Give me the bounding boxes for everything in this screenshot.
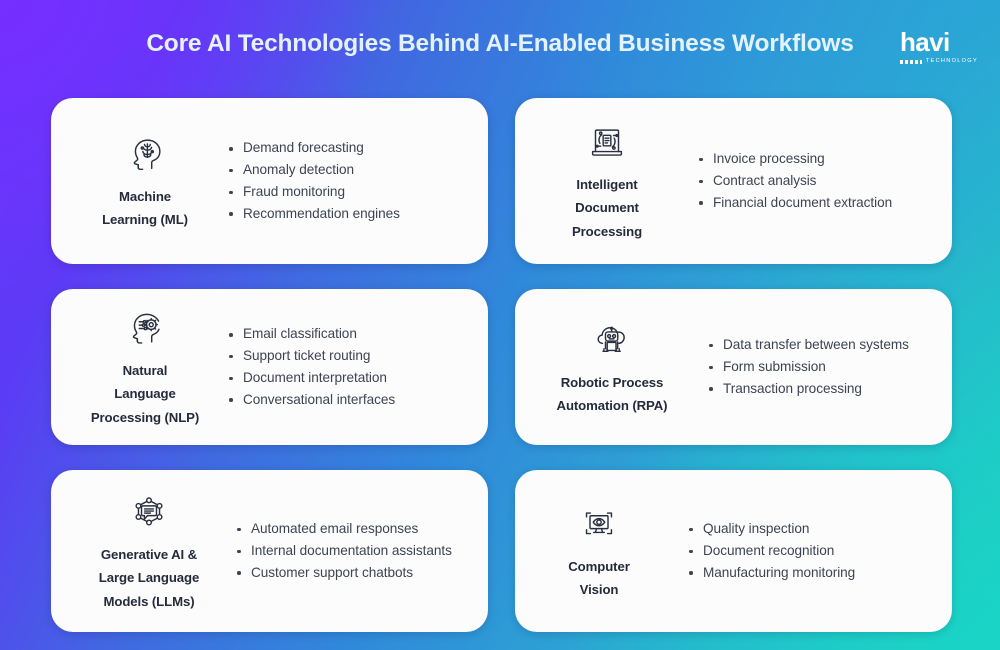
card-identity: IntelligentDocumentProcessing	[533, 119, 681, 242]
list-item: Email classification	[227, 323, 474, 345]
card-details: Invoice processing Contract analysis Fin…	[681, 148, 938, 213]
use-case-list: Quality inspection Document recognition …	[687, 518, 938, 583]
card-details: Automated email responses Internal docum…	[229, 518, 474, 583]
card-intelligent-document-processing[interactable]: IntelligentDocumentProcessing Invoice pr…	[515, 98, 952, 264]
card-computer-vision[interactable]: ComputerVision Quality inspection Docume…	[515, 470, 952, 632]
card-title: IntelligentDocumentProcessing	[572, 173, 642, 242]
list-item: Data transfer between systems	[707, 334, 938, 356]
card-generative-ai-llm[interactable]: Generative AI &Large LanguageModels (LLM…	[51, 470, 488, 632]
card-details: Quality inspection Document recognition …	[665, 518, 938, 583]
card-machine-learning[interactable]: MachineLearning (ML) Demand forecasting …	[51, 98, 488, 264]
laptop-document-gear-icon	[584, 119, 630, 165]
robot-cloud-icon	[589, 317, 635, 363]
card-title: ComputerVision	[568, 555, 629, 601]
card-robotic-process-automation[interactable]: Robotic ProcessAutomation (RPA) Data tra…	[515, 289, 952, 445]
list-item: Internal documentation assistants	[235, 540, 474, 562]
list-item: Document recognition	[687, 540, 938, 562]
card-identity: Generative AI &Large LanguageModels (LLM…	[69, 489, 229, 612]
brand-logo: havi TECHNOLOGY	[900, 29, 978, 65]
list-item: Form submission	[707, 356, 938, 378]
card-natural-language-processing[interactable]: NaturalLanguageProcessing (NLP) Email cl…	[51, 289, 488, 445]
card-details: Demand forecasting Anomaly detection Fra…	[221, 137, 474, 224]
list-item: Fraud monitoring	[227, 181, 474, 203]
card-identity: MachineLearning (ML)	[69, 131, 221, 231]
head-brain-icon	[122, 131, 168, 177]
list-item: Demand forecasting	[227, 137, 474, 159]
use-case-list: Automated email responses Internal docum…	[235, 518, 474, 583]
list-item: Customer support chatbots	[235, 562, 474, 584]
card-details: Email classification Support ticket rout…	[221, 323, 474, 410]
list-item: Document interpretation	[227, 367, 474, 389]
card-identity: ComputerVision	[533, 501, 665, 601]
technology-card-grid: MachineLearning (ML) Demand forecasting …	[51, 98, 952, 632]
head-circuit-gear-icon	[122, 305, 168, 351]
use-case-list: Demand forecasting Anomaly detection Fra…	[227, 137, 474, 224]
card-title: MachineLearning (ML)	[102, 185, 188, 231]
logo-dashes-icon	[900, 60, 922, 64]
chat-network-hexagon-icon	[126, 489, 172, 535]
infographic-page: Core AI Technologies Behind AI-Enabled B…	[0, 0, 1000, 650]
list-item: Transaction processing	[707, 378, 938, 400]
card-details: Data transfer between systems Form submi…	[691, 334, 938, 399]
use-case-list: Email classification Support ticket rout…	[227, 323, 474, 410]
logo-tagline: TECHNOLOGY	[926, 59, 978, 65]
list-item: Support ticket routing	[227, 345, 474, 367]
logo-wordmark: havi	[900, 29, 978, 55]
list-item: Invoice processing	[697, 148, 938, 170]
list-item: Financial document extraction	[697, 192, 938, 214]
page-title: Core AI Technologies Behind AI-Enabled B…	[0, 30, 1000, 58]
logo-subline: TECHNOLOGY	[900, 59, 978, 65]
use-case-list: Invoice processing Contract analysis Fin…	[697, 148, 938, 213]
header: Core AI Technologies Behind AI-Enabled B…	[0, 0, 1000, 92]
card-title: Robotic ProcessAutomation (RPA)	[557, 371, 668, 417]
list-item: Manufacturing monitoring	[687, 562, 938, 584]
card-identity: Robotic ProcessAutomation (RPA)	[533, 317, 691, 417]
card-title: Generative AI &Large LanguageModels (LLM…	[99, 543, 199, 612]
monitor-eye-icon	[576, 501, 622, 547]
use-case-list: Data transfer between systems Form submi…	[707, 334, 938, 399]
card-title: NaturalLanguageProcessing (NLP)	[91, 359, 199, 428]
list-item: Conversational interfaces	[227, 389, 474, 411]
list-item: Quality inspection	[687, 518, 938, 540]
card-identity: NaturalLanguageProcessing (NLP)	[69, 305, 221, 428]
list-item: Contract analysis	[697, 170, 938, 192]
list-item: Anomaly detection	[227, 159, 474, 181]
list-item: Recommendation engines	[227, 203, 474, 225]
list-item: Automated email responses	[235, 518, 474, 540]
